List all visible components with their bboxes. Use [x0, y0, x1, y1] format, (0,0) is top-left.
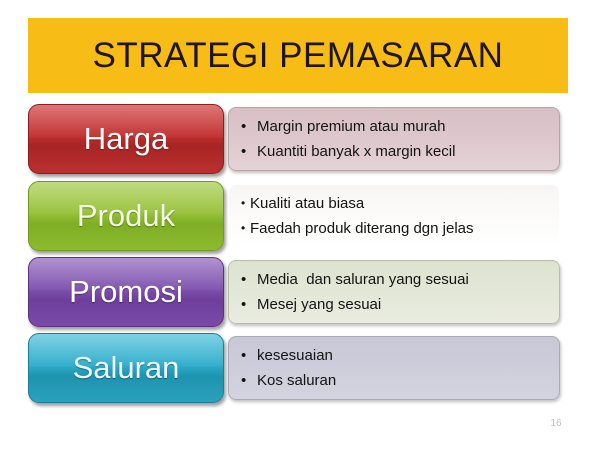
page-title: STRATEGI PEMASARAN	[93, 36, 504, 76]
list-item: Kos saluran	[239, 368, 557, 393]
strategy-row-harga: Harga Margin premium atau murah Kuantiti…	[28, 104, 560, 176]
strategy-row-saluran: Saluran kesesuaian Kos saluran	[28, 333, 560, 405]
strategy-row-promosi: Promosi Media dan saluran yang sesuai Me…	[28, 257, 560, 329]
slide-canvas: STRATEGI PEMASARAN Harga Margin premium …	[0, 0, 600, 449]
detail-panel-saluran: kesesuaian Kos saluran	[228, 336, 560, 400]
detail-panel-harga: Margin premium atau murah Kuantiti banya…	[228, 107, 560, 171]
bullet-list: Media dan saluran yang sesuai Mesej yang…	[239, 267, 557, 317]
list-item: Media dan saluran yang sesuai	[239, 267, 557, 292]
bullet-list: Kualiti atau biasa Faedah produk diteran…	[239, 191, 557, 241]
category-chip-label: Saluran	[73, 350, 180, 386]
list-item: Margin premium atau murah	[239, 114, 557, 139]
list-item: Faedah produk diterang dgn jelas	[239, 216, 557, 241]
category-chip-label: Promosi	[69, 274, 183, 310]
category-chip-promosi[interactable]: Promosi	[28, 257, 224, 327]
category-chip-saluran[interactable]: Saluran	[28, 333, 224, 403]
title-banner: STRATEGI PEMASARAN	[28, 18, 568, 93]
category-chip-label: Harga	[84, 121, 168, 157]
strategy-row-produk: Produk Kualiti atau biasa Faedah produk …	[28, 181, 560, 253]
list-item: Mesej yang sesuai	[239, 292, 557, 317]
slide-page-number: 16	[544, 418, 568, 429]
category-chip-produk[interactable]: Produk	[28, 181, 224, 251]
category-chip-harga[interactable]: Harga	[28, 104, 224, 174]
list-item: Kualiti atau biasa	[239, 191, 557, 216]
detail-panel-promosi: Media dan saluran yang sesuai Mesej yang…	[228, 260, 560, 324]
detail-panel-produk: Kualiti atau biasa Faedah produk diteran…	[228, 184, 560, 248]
list-item: Kuantiti banyak x margin kecil	[239, 139, 557, 164]
bullet-list: Margin premium atau murah Kuantiti banya…	[239, 114, 557, 164]
category-chip-label: Produk	[77, 198, 175, 234]
list-item: kesesuaian	[239, 343, 557, 368]
bullet-list: kesesuaian Kos saluran	[239, 343, 557, 393]
